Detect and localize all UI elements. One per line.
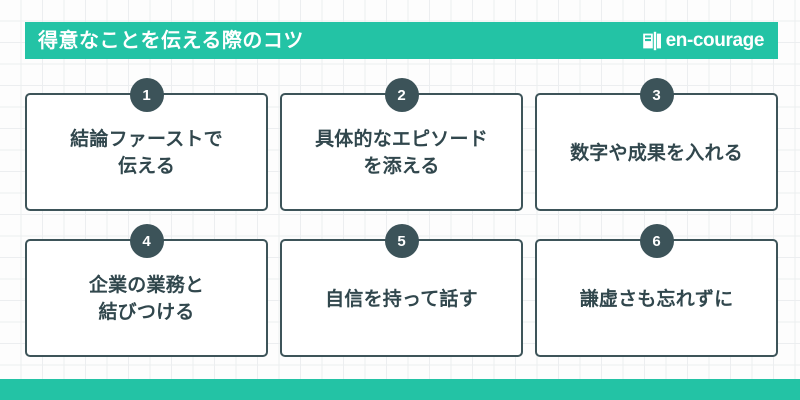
card-label: 謙虚さも忘れずに (580, 287, 734, 314)
tip-card: 6 謙虚さも忘れずに (535, 239, 778, 357)
card-number-badge: 1 (130, 78, 164, 112)
card-number-badge: 4 (130, 224, 164, 258)
header-band: 得意なことを伝える際のコツ en-courage (25, 22, 778, 59)
brand-logo: en-courage (642, 31, 764, 51)
tip-card: 1 結論ファーストで 伝える (25, 93, 268, 211)
page-title: 得意なことを伝える際のコツ (38, 31, 304, 51)
tip-card: 2 具体的なエピソード を添える (280, 93, 523, 211)
card-number-badge: 3 (640, 78, 674, 112)
slide-canvas: 得意なことを伝える際のコツ en-courage 1 結論ファーストで 伝える … (0, 0, 800, 400)
card-number-badge: 5 (385, 224, 419, 258)
card-label: 具体的なエピソード を添える (315, 127, 488, 181)
card-label: 数字や成果を入れる (570, 141, 743, 168)
card-number-badge: 6 (640, 224, 674, 258)
card-label: 結論ファーストで 伝える (70, 127, 223, 181)
brand-logo-text: en-courage (666, 31, 764, 50)
tip-card: 4 企業の業務と 結びつける (25, 239, 268, 357)
card-label: 企業の業務と 結びつける (89, 273, 204, 327)
footer-band (0, 379, 800, 400)
tip-card: 3 数字や成果を入れる (535, 93, 778, 211)
tip-card: 5 自信を持って話す (280, 239, 523, 357)
card-number-badge: 2 (385, 78, 419, 112)
open-book-icon (642, 31, 662, 51)
card-label: 自信を持って話す (325, 287, 478, 314)
tips-card-grid: 1 結論ファーストで 伝える 2 具体的なエピソード を添える 3 数字や成果を… (25, 93, 778, 357)
